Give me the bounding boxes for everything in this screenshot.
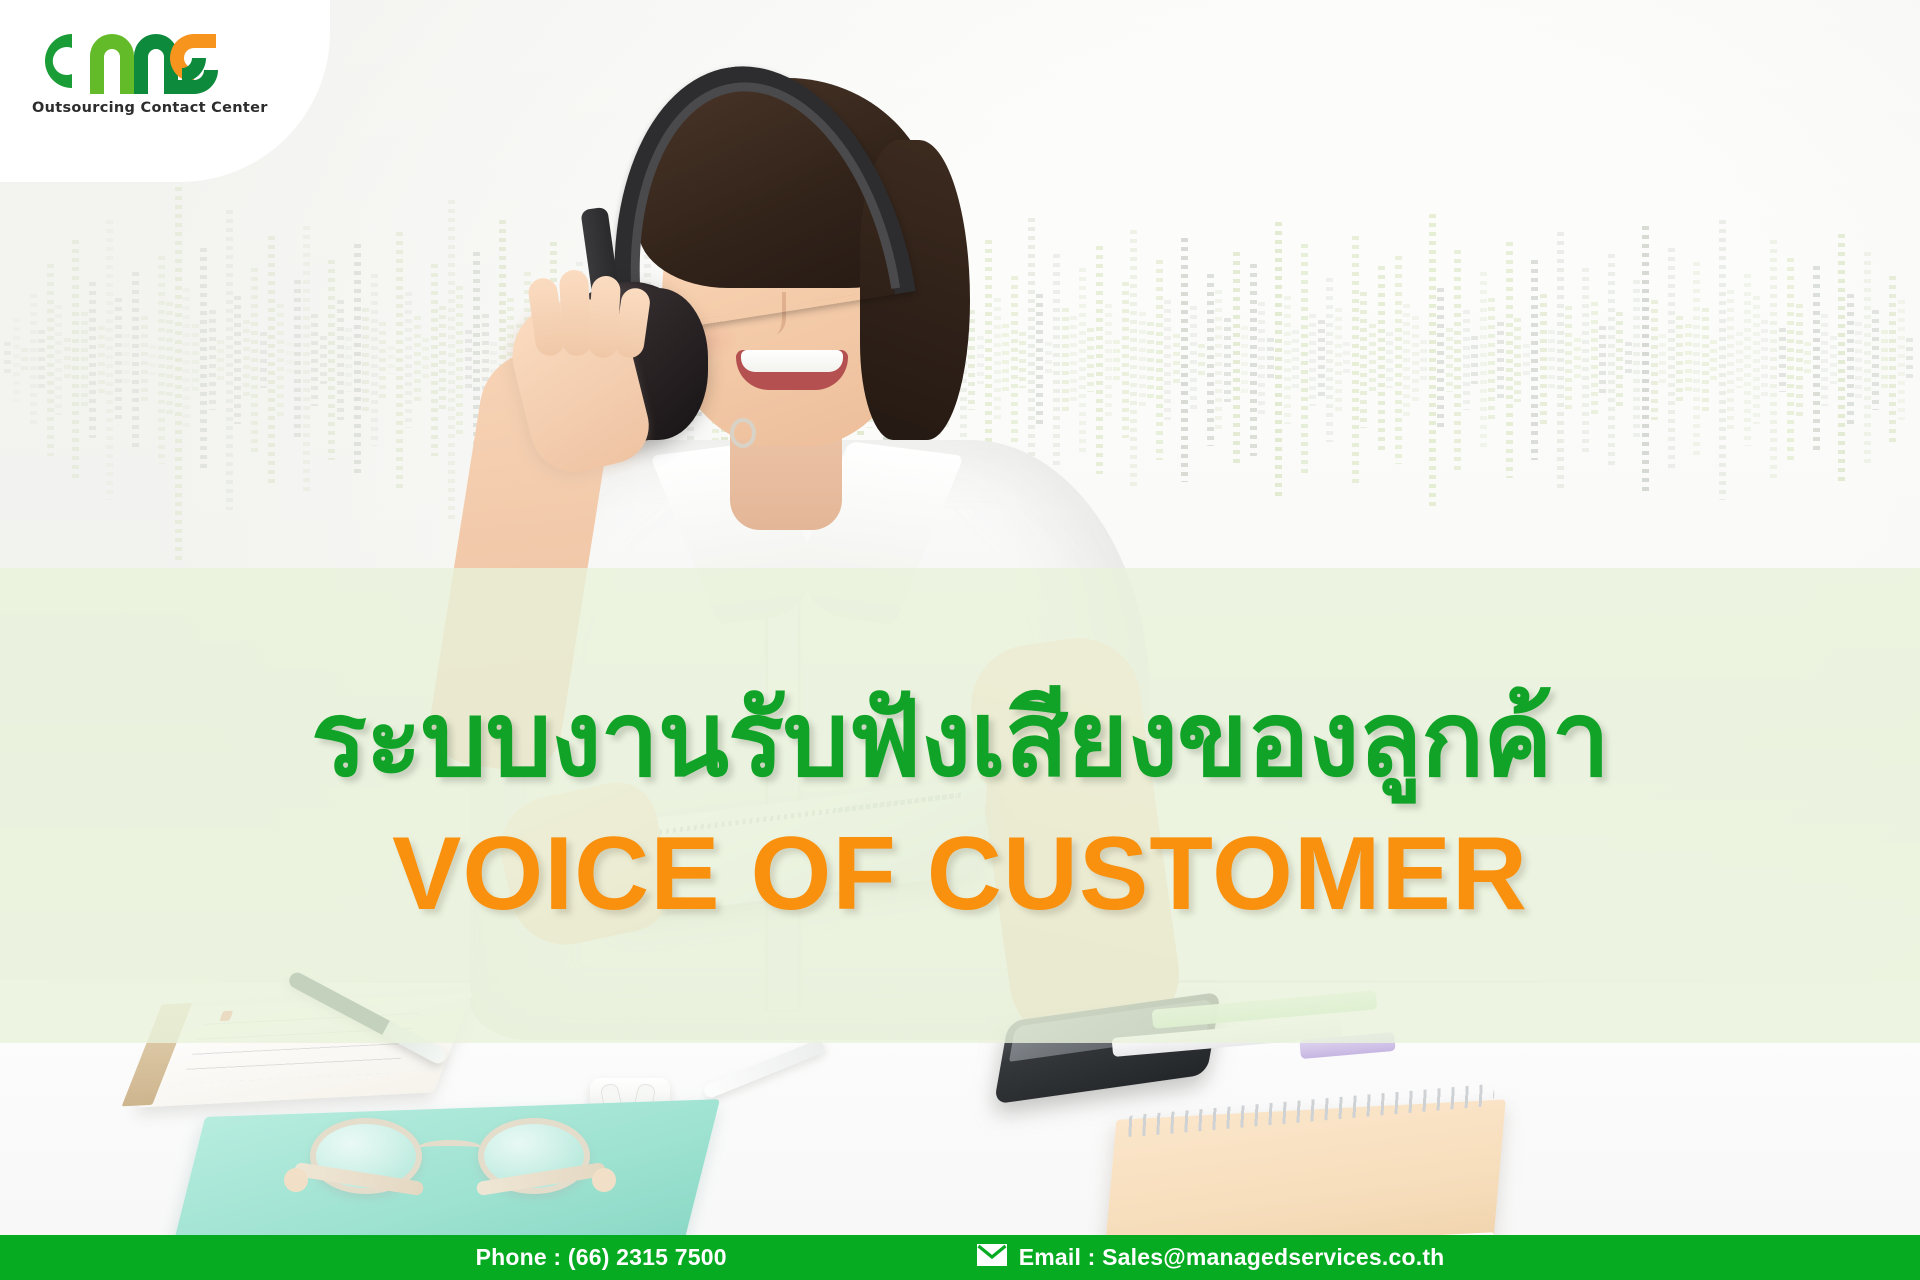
contact-footer-bar: Phone : (66) 2315 7500 Email : Sales@man… xyxy=(0,1235,1920,1280)
eyeglass-bridge xyxy=(418,1140,482,1156)
cms-logo-icon xyxy=(34,26,220,96)
voc-promo-banner: ระบบงานรับฟังเสียงของลูกค้า VOICE OF CUS… xyxy=(0,0,1920,1280)
phone-contact[interactable]: Phone : (66) 2315 7500 xyxy=(476,1244,727,1271)
teeth xyxy=(741,350,843,372)
eyeglasses xyxy=(310,1118,590,1198)
eyeglass-tip-left xyxy=(284,1168,308,1192)
logo-tagline: Outsourcing Contact Center xyxy=(32,100,242,116)
headline-english: VOICE OF CUSTOMER xyxy=(392,822,1528,926)
eyeglass-tip-right xyxy=(592,1168,616,1192)
earring xyxy=(730,418,756,448)
smiling-mouth xyxy=(736,350,848,390)
finger xyxy=(559,269,592,356)
phone-label: Phone : (66) 2315 7500 xyxy=(476,1244,727,1271)
headline-thai: ระบบงานรับฟังเสียงของลูกค้า xyxy=(311,685,1609,794)
email-contact[interactable]: Email : Sales@managedservices.co.th xyxy=(977,1244,1445,1272)
envelope-icon xyxy=(977,1244,1007,1272)
headline-block: ระบบงานรับฟังเสียงของลูกค้า VOICE OF CUS… xyxy=(0,568,1920,1043)
email-label: Email : Sales@managedservices.co.th xyxy=(1019,1244,1445,1271)
